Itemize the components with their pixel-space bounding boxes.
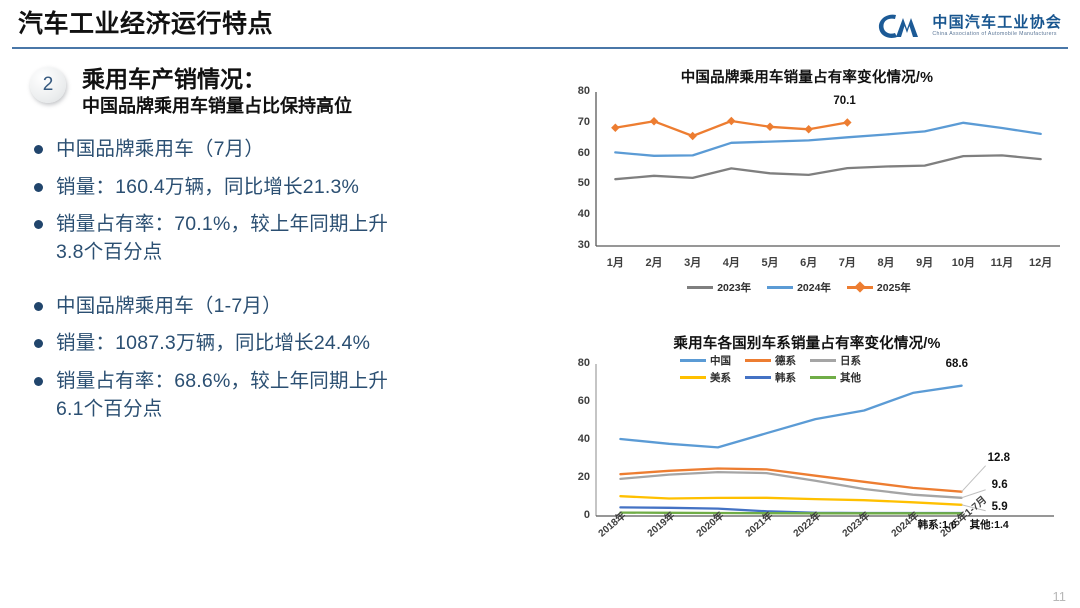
y-axis-tick-label: 40 [564, 433, 590, 445]
x-axis-tick-label: 9月 [905, 254, 945, 270]
label-leader-line [962, 466, 986, 492]
legend-label: 2023年 [717, 280, 751, 295]
left-content-column: 2 乘用车产销情况： 中国品牌乘用车销量占比保持高位 中国品牌乘用车（7月） 销… [0, 58, 540, 598]
series-line-2024年 [615, 123, 1040, 156]
x-axis-tick-label: 10月 [943, 254, 983, 270]
series-marker-2025年 [727, 117, 735, 125]
section-number-badge: 2 [30, 67, 66, 103]
series-marker-2025年 [688, 132, 696, 140]
slide-header: 汽车工业经济运行特点 中国汽车工业协会 China Association of… [0, 0, 1080, 52]
chart-title: 乘用车各国别车系销量占有率变化情况/% [534, 320, 1080, 353]
legend-label: 2024年 [797, 280, 831, 295]
y-axis-tick-label: 50 [564, 177, 590, 189]
chart-plot-area: 0204060802018年2019年2020年2021年2022年2023年2… [534, 350, 1080, 570]
logo-english-name: China Association of Automobile Manufact… [932, 31, 1062, 37]
cam-logo-icon [876, 11, 924, 41]
page-number: 11 [1053, 589, 1067, 604]
series-marker-2025年 [650, 117, 658, 125]
data-label: 70.1 [833, 95, 855, 107]
y-axis-tick-label: 60 [564, 395, 590, 407]
right-charts-column: 中国品牌乘用车销量占有率变化情况/% 3040506070801月2月3月4月5… [534, 58, 1080, 608]
bullet-text: 中国品牌乘用车（1-7月） [56, 295, 282, 317]
bullet-text-continuation: 6.1个百分点 [56, 396, 530, 424]
page-title: 汽车工业经济运行特点 [18, 4, 273, 40]
legend-item-2023年[interactable]: 2023年 [687, 280, 751, 295]
y-axis-tick-label: 0 [564, 509, 590, 521]
header-divider [12, 47, 1068, 49]
series-line-美系 [620, 496, 961, 505]
x-axis-tick-label: 8月 [866, 254, 906, 270]
bullet-text-continuation: 3.8个百分点 [56, 239, 530, 267]
y-axis-tick-label: 60 [564, 147, 590, 159]
legend-swatch-icon [767, 286, 793, 289]
x-axis-tick-label: 11月 [982, 254, 1022, 270]
legend-item-2024年[interactable]: 2024年 [767, 280, 831, 295]
x-axis-tick-label: 12月 [1021, 254, 1061, 270]
bullet-text: 销量：160.4万辆，同比增长21.3% [56, 176, 359, 198]
series-marker-2025年 [804, 125, 812, 133]
list-item: 销量占有率：68.6%，较上年同期上升 6.1个百分点 [30, 368, 530, 423]
section-heading-sub: 中国品牌乘用车销量占比保持高位 [82, 95, 352, 118]
list-item: 销量：1087.3万辆，同比增长24.4% [30, 330, 530, 358]
y-axis-tick-label: 70 [564, 116, 590, 128]
section-heading-block: 乘用车产销情况： 中国品牌乘用车销量占比保持高位 [82, 65, 352, 118]
series-line-中国 [620, 386, 961, 448]
x-axis-tick-label: 3月 [673, 254, 713, 270]
legend-item-2025年[interactable]: 2025年 [847, 280, 911, 295]
y-axis-tick-label: 20 [564, 471, 590, 483]
list-item: 中国品牌乘用车（7月） [30, 136, 530, 164]
series-marker-2025年 [843, 118, 851, 126]
list-item: 销量：160.4万辆，同比增长21.3% [30, 174, 530, 202]
bullet-text: 销量：1087.3万辆，同比增长24.4% [56, 332, 370, 354]
bullet-text: 中国品牌乘用车（7月） [56, 138, 264, 160]
x-axis-tick-label: 4月 [711, 254, 751, 270]
data-label: 韩系:1.6 [918, 517, 957, 532]
y-axis-tick-label: 80 [564, 357, 590, 369]
section-heading-main: 乘用车产销情况： [82, 65, 352, 93]
organization-logo: 中国汽车工业协会 China Association of Automobile… [876, 8, 1062, 44]
chart-country-brand-share: 乘用车各国别车系销量占有率变化情况/% 中国德系日系美系韩系其他 0204060… [534, 320, 1080, 600]
chart-china-brand-share: 中国品牌乘用车销量占有率变化情况/% 3040506070801月2月3月4月5… [534, 58, 1080, 320]
x-axis-tick-label: 5月 [750, 254, 790, 270]
logo-chinese-name: 中国汽车工业协会 [932, 15, 1062, 31]
chart-title: 中国品牌乘用车销量占有率变化情况/% [534, 58, 1080, 87]
bullet-text: 销量占有率：70.1%，较上年同期上升 [56, 213, 388, 235]
chart-legend: 2023年2024年2025年 [534, 280, 1080, 295]
data-label: 68.6 [946, 358, 968, 370]
x-axis-tick-label: 2月 [634, 254, 674, 270]
bullet-list: 中国品牌乘用车（7月） 销量：160.4万辆，同比增长21.3% 销量占有率：7… [30, 136, 530, 434]
series-marker-2025年 [766, 123, 774, 131]
list-item: 销量占有率：70.1%，较上年同期上升 3.8个百分点 [30, 211, 530, 266]
data-label: 12.8 [988, 452, 1010, 464]
legend-swatch-icon [847, 286, 873, 289]
series-marker-2025年 [611, 123, 619, 131]
list-item: 中国品牌乘用车（1-7月） [30, 293, 530, 321]
data-label: 5.9 [992, 501, 1008, 513]
x-axis-tick-label: 7月 [827, 254, 867, 270]
series-line-2023年 [615, 155, 1040, 179]
logo-text-block: 中国汽车工业协会 China Association of Automobile… [932, 15, 1062, 38]
series-line-日系 [620, 472, 961, 498]
series-line-德系 [620, 469, 961, 492]
chart-plot-area: 3040506070801月2月3月4月5月6月7月8月9月10月11月12月7… [534, 84, 1080, 284]
y-axis-tick-label: 40 [564, 208, 590, 220]
x-axis-tick-label: 6月 [789, 254, 829, 270]
data-label: 其他:1.4 [970, 517, 1009, 532]
bullet-text: 销量占有率：68.6%，较上年同期上升 [56, 370, 388, 392]
y-axis-tick-label: 30 [564, 239, 590, 251]
legend-swatch-icon [687, 286, 713, 289]
legend-label: 2025年 [877, 280, 911, 295]
data-label: 9.6 [992, 479, 1008, 491]
list-group-spacer [30, 277, 530, 293]
y-axis-tick-label: 80 [564, 85, 590, 97]
x-axis-tick-label: 1月 [595, 254, 635, 270]
